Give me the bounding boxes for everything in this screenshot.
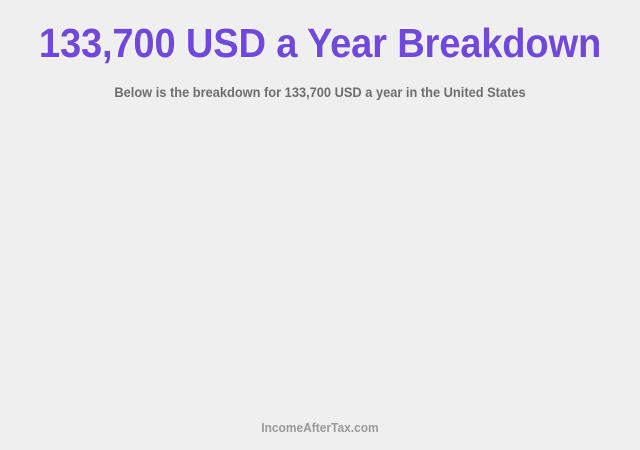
infographic-canvas: 133,700 USD a Year Breakdown Below is th… — [0, 0, 640, 450]
page-subtitle: Below is the breakdown for 133,700 USD a… — [16, 85, 624, 101]
footer-watermark: IncomeAfterTax.com — [26, 420, 615, 435]
page-title: 133,700 USD a Year Breakdown — [22, 19, 617, 67]
chart-empty-placeholder — [0, 115, 640, 410]
chart-area — [0, 115, 640, 410]
